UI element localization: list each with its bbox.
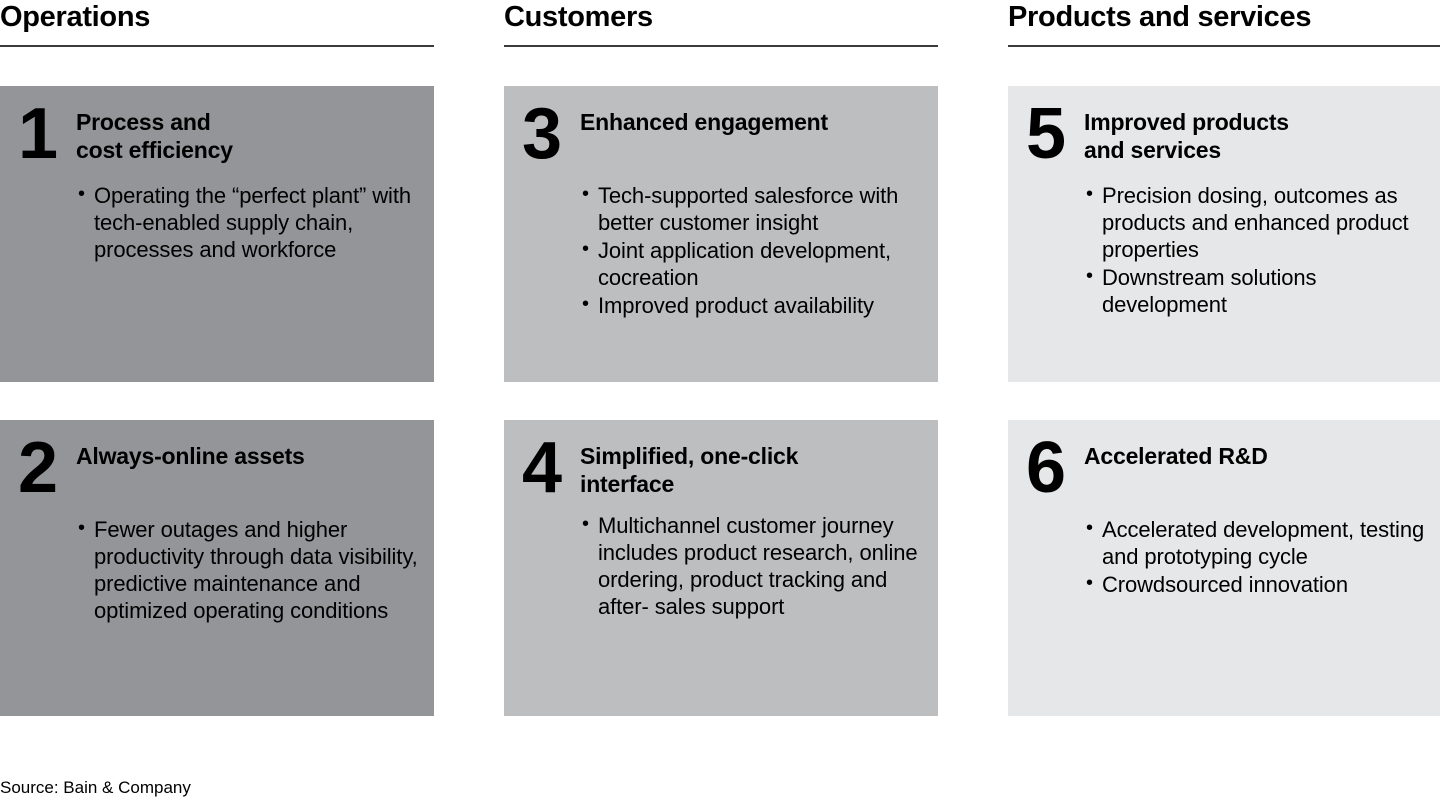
card-6-head: 6 Accelerated R&D	[1026, 434, 1430, 502]
card-6: 6 Accelerated R&D Accelerated developmen…	[1008, 420, 1440, 716]
column-title: Customers	[504, 0, 653, 34]
list-item: Improved product availability	[582, 292, 928, 319]
list-item: Tech-supported salesforce with better cu…	[582, 182, 928, 236]
card-5-number: 5	[1026, 100, 1084, 168]
list-item: Accelerated development, testing and pro…	[1086, 516, 1430, 570]
list-item: Crowdsourced innovation	[1086, 571, 1430, 598]
column-operations: Operations 1 Process andcost efficiency …	[0, 0, 434, 716]
card-6-title: Accelerated R&D	[1084, 434, 1268, 470]
card-3-title: Enhanced engagement	[580, 100, 828, 136]
column-title: Operations	[0, 0, 150, 34]
column-header-products: Products and services	[1008, 0, 1440, 47]
slide-root: Operations 1 Process andcost efficiency …	[0, 0, 1440, 810]
card-5-head: 5 Improved productsand services	[1026, 100, 1430, 168]
column-products-and-services: Products and services 5 Improved product…	[1008, 0, 1440, 716]
card-5-bullet-list: Precision dosing, outcomes as products a…	[1026, 182, 1430, 318]
column-header-operations: Operations	[0, 0, 434, 47]
card-4-number: 4	[522, 434, 580, 502]
card-4-head: 4 Simplified, one-clickinterface	[522, 434, 928, 502]
list-item: Fewer outages and higher productivity th…	[78, 516, 424, 624]
card-2-head: 2 Always-online assets	[18, 434, 424, 502]
card-2: 2 Always-online assets Fewer outages and…	[0, 420, 434, 716]
list-item: Operating the “perfect plant” with tech-…	[78, 182, 424, 263]
card-3-head: 3 Enhanced engagement	[522, 100, 928, 168]
source-note: Source: Bain & Company	[0, 777, 191, 798]
card-4-bullet-list: Multichannel customer journey includes p…	[522, 512, 928, 620]
column-header-customers: Customers	[504, 0, 938, 47]
card-1-number: 1	[18, 100, 76, 168]
card-2-title: Always-online assets	[76, 434, 305, 470]
list-item: Joint application development, cocreatio…	[582, 237, 928, 291]
list-item: Precision dosing, outcomes as products a…	[1086, 182, 1430, 263]
card-4-title: Simplified, one-clickinterface	[580, 434, 798, 498]
card-4: 4 Simplified, one-clickinterface Multich…	[504, 420, 938, 716]
card-3: 3 Enhanced engagement Tech-supported sal…	[504, 86, 938, 382]
card-1: 1 Process andcost efficiency Operating t…	[0, 86, 434, 382]
card-1-title: Process andcost efficiency	[76, 100, 233, 164]
card-5-title: Improved productsand services	[1084, 100, 1289, 164]
list-item: Downstream solutions development	[1086, 264, 1430, 318]
card-2-number: 2	[18, 434, 76, 502]
card-3-number: 3	[522, 100, 580, 168]
card-6-bullet-list: Accelerated development, testing and pro…	[1026, 516, 1430, 598]
card-2-bullet-list: Fewer outages and higher productivity th…	[18, 516, 424, 624]
card-6-number: 6	[1026, 434, 1084, 502]
card-1-head: 1 Process andcost efficiency	[18, 100, 424, 168]
column-title: Products and services	[1008, 0, 1311, 34]
column-grid: Operations 1 Process andcost efficiency …	[0, 0, 1440, 716]
card-1-bullet-list: Operating the “perfect plant” with tech-…	[18, 182, 424, 263]
card-3-bullet-list: Tech-supported salesforce with better cu…	[522, 182, 928, 319]
card-5: 5 Improved productsand services Precisio…	[1008, 86, 1440, 382]
column-customers: Customers 3 Enhanced engagement Tech-sup…	[504, 0, 938, 716]
list-item: Multichannel customer journey includes p…	[582, 512, 928, 620]
